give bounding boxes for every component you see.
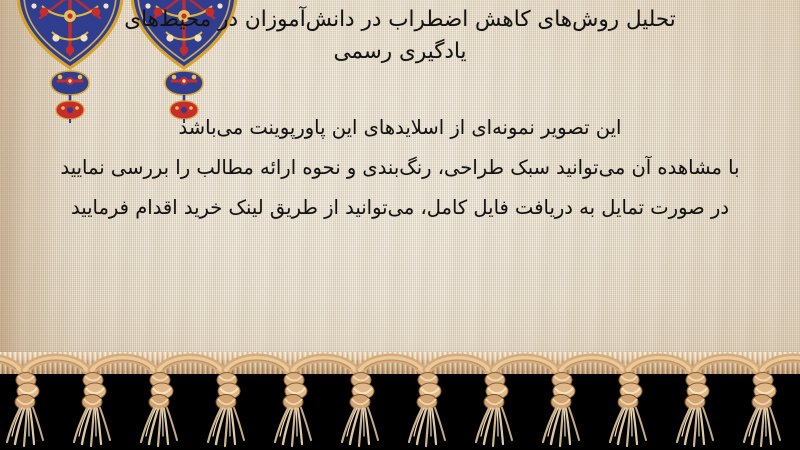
body-line-1: این تصویر نمونه‌ای از اسلایدهای این پاور… <box>8 108 792 148</box>
page-title: تحلیل روش‌های کاهش اضطراب در دانش‌آموزان… <box>8 4 792 68</box>
carpet-tassel-fringe <box>0 352 800 450</box>
slide-body: این تصویر نمونه‌ای از اسلایدهای این پاور… <box>8 108 792 228</box>
presentation-slide: تحلیل روش‌های کاهش اضطراب در دانش‌آموزان… <box>0 0 800 450</box>
title-line-1: تحلیل روش‌های کاهش اضطراب در دانش‌آموزان… <box>8 4 792 36</box>
title-line-2: یادگیری رسمی <box>8 36 792 68</box>
slide-text-layer: تحلیل روش‌های کاهش اضطراب در دانش‌آموزان… <box>0 0 800 375</box>
body-line-3: در صورت تمایل به دریافت فایل کامل، می‌تو… <box>8 188 792 228</box>
body-line-2: با مشاهده آن می‌توانید سبک طراحی، رنگ‌بن… <box>8 148 792 188</box>
